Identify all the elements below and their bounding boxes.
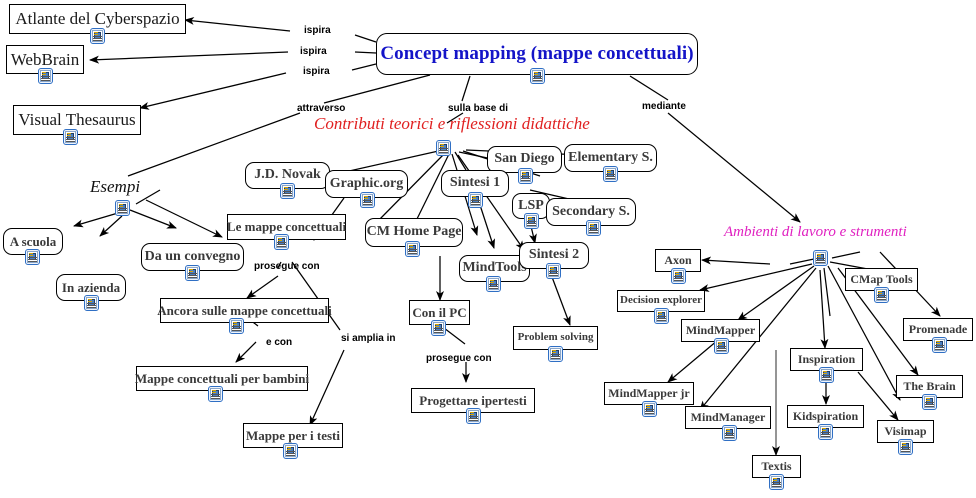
node-label: Secondary S. — [546, 205, 636, 220]
resource-icon[interactable] — [185, 265, 200, 281]
resource-icon[interactable] — [818, 424, 833, 440]
resource-icon[interactable] — [898, 439, 913, 455]
link-label-ispira-2: ispira — [300, 46, 327, 57]
link-label-mediante: mediante — [642, 101, 686, 112]
resource-icon[interactable] — [466, 408, 481, 424]
node-label: Axon — [658, 254, 697, 267]
resource-icon[interactable] — [586, 220, 601, 236]
node-label: Sintesi 2 — [523, 248, 585, 263]
link-label-ispira-3: ispira — [303, 66, 330, 77]
node-label: Mappe concettuali per bambini — [129, 372, 315, 386]
node-label: Concept mapping (mappe concettuali) — [374, 44, 699, 64]
resource-icon[interactable] — [486, 276, 501, 292]
node-label: J.D. Novak — [248, 168, 327, 183]
resource-icon[interactable] — [431, 320, 446, 336]
link-label-e-con: e con — [266, 337, 292, 348]
resource-icon[interactable] — [524, 213, 539, 229]
resource-icon[interactable] — [671, 268, 686, 284]
node-label: MindMapper jr — [602, 387, 695, 400]
resource-icon[interactable] — [208, 386, 223, 402]
resource-icon[interactable] — [38, 68, 53, 84]
node-label: The Brain — [897, 380, 961, 393]
resource-icon[interactable] — [546, 263, 561, 279]
resource-icon[interactable] — [714, 338, 729, 354]
node-label: Da un convegno — [139, 250, 247, 265]
resource-icon[interactable] — [115, 200, 130, 216]
concept-label-esempi[interactable]: Esempi — [90, 177, 140, 197]
resource-icon[interactable] — [280, 183, 295, 199]
node-label: Mappe per i testi — [240, 429, 346, 443]
link-label-prosegue-con-1: prosegue con — [254, 261, 320, 272]
concept-label-ambienti-di-lavoro[interactable]: Ambienti di lavoro e strumenti — [724, 224, 907, 241]
node-label: WebBrain — [5, 51, 86, 69]
resource-icon[interactable] — [360, 192, 375, 208]
node-label: Textis — [755, 460, 797, 473]
link-label-sulla-base-di: sulla base di — [448, 103, 508, 114]
node-label: Decision explorer — [614, 295, 708, 307]
resource-icon[interactable] — [722, 425, 737, 441]
node-label: In azienda — [56, 281, 126, 295]
resource-icon[interactable] — [874, 287, 889, 303]
node-label: Kidspiration — [787, 410, 864, 423]
resource-icon[interactable] — [274, 234, 289, 250]
node-label: MindMapper — [680, 324, 761, 337]
node-label: Atlante del Cyberspazio — [9, 10, 185, 28]
node-label: MindManager — [685, 411, 772, 424]
node-label: Le mappe concettuali — [221, 220, 352, 234]
node-label: Problem solving — [512, 332, 600, 344]
resource-icon[interactable] — [922, 394, 937, 410]
node-label: San Diego — [488, 152, 560, 167]
resource-icon[interactable] — [932, 337, 947, 353]
node-label: LSP — [512, 199, 550, 214]
resource-icon[interactable] — [642, 401, 657, 417]
resource-icon[interactable] — [819, 367, 834, 383]
resource-icon[interactable] — [63, 129, 78, 145]
resource-icon[interactable] — [603, 166, 618, 182]
concept-label-contributi-teorici[interactable]: Contributi teorici e riflessioni didatti… — [314, 114, 590, 134]
node-label: Inspiration — [792, 353, 861, 366]
resource-icon[interactable] — [548, 346, 563, 362]
resource-icon[interactable] — [530, 68, 545, 84]
link-label-ispira-1: ispira — [304, 25, 331, 36]
node-label: CMap Tools — [844, 273, 918, 286]
resource-icon[interactable] — [654, 308, 669, 324]
node-label: Ancora sulle mappe concettuali — [151, 304, 337, 318]
node-label: Visimap — [878, 425, 932, 438]
link-label-prosegue-con-2: prosegue con — [426, 353, 492, 364]
resource-icon[interactable] — [283, 443, 298, 459]
resource-icon[interactable] — [518, 168, 533, 184]
resource-icon[interactable] — [436, 140, 451, 156]
resource-icon[interactable] — [90, 28, 105, 44]
resource-icon[interactable] — [229, 318, 244, 334]
resource-icon[interactable] — [405, 241, 420, 257]
resource-icon[interactable] — [84, 295, 99, 311]
node-label: Sintesi 1 — [444, 176, 506, 191]
link-label-si-amplia-in: si amplia in — [341, 333, 395, 344]
node-label: Promenade — [903, 323, 973, 336]
resource-icon[interactable] — [25, 249, 40, 265]
resource-icon[interactable] — [769, 474, 784, 490]
link-label-attraverso: attraverso — [297, 103, 345, 114]
resource-icon[interactable] — [813, 250, 828, 266]
concept-map-canvas: Concept mapping (mappe concettuali) Atla… — [0, 0, 976, 498]
node-label: A scuola — [4, 235, 63, 249]
resource-icon[interactable] — [468, 192, 483, 208]
node-label: Con il PC — [406, 306, 472, 320]
node-label: Progettare ipertesti — [413, 394, 532, 408]
node-ancora-sulle-mappe-concettuali[interactable]: Ancora sulle mappe concettuali — [160, 298, 329, 323]
node-label: Graphic.org — [324, 177, 410, 192]
node-label: Visual Thesaurus — [12, 111, 141, 129]
node-label: Elementary S. — [562, 151, 659, 166]
node-label: CM Home Page — [361, 225, 468, 240]
